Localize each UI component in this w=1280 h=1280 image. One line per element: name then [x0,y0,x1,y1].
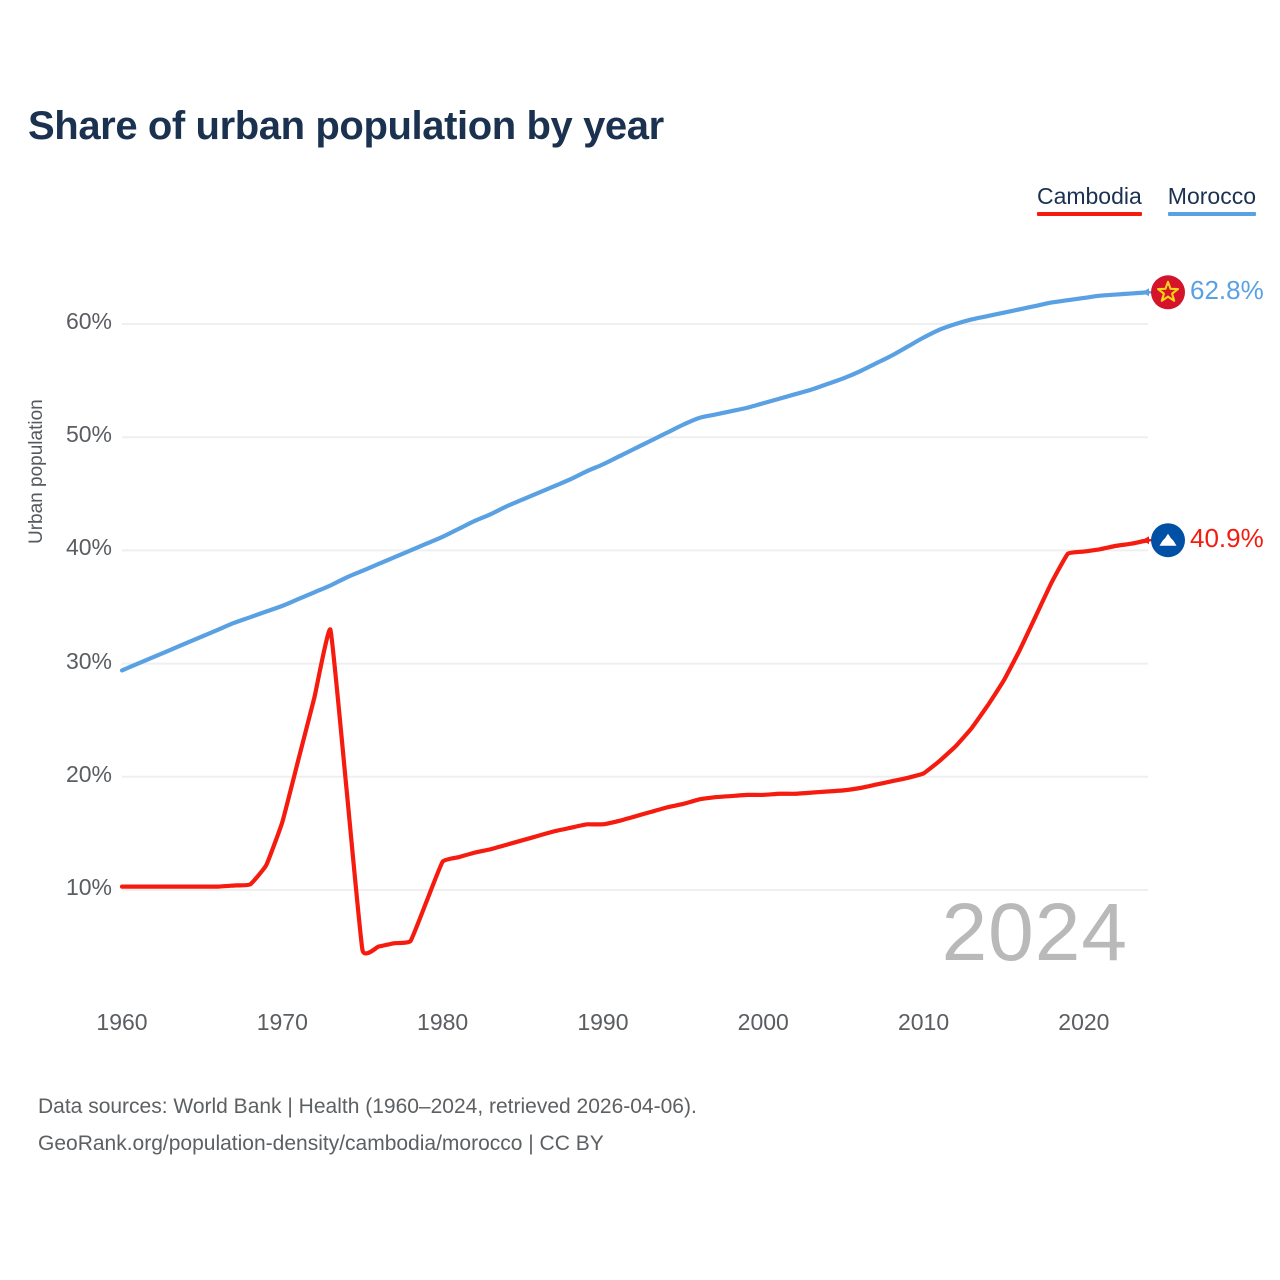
endpoint-label-cambodia: 40.9% [1190,523,1264,554]
cambodia-flag-icon [1151,523,1185,557]
endpoint-markers [1142,275,1185,557]
footer-attribution: GeoRank.org/population-density/cambodia/… [38,1125,697,1162]
series-lines [122,292,1148,953]
footer-sources: Data sources: World Bank | Health (1960–… [38,1088,697,1125]
chart-page: Share of urban population by year Cambod… [0,0,1280,1280]
footer: Data sources: World Bank | Health (1960–… [38,1088,697,1162]
endpoint-label-morocco: 62.8% [1190,275,1264,306]
morocco-flag-icon [1151,275,1185,309]
